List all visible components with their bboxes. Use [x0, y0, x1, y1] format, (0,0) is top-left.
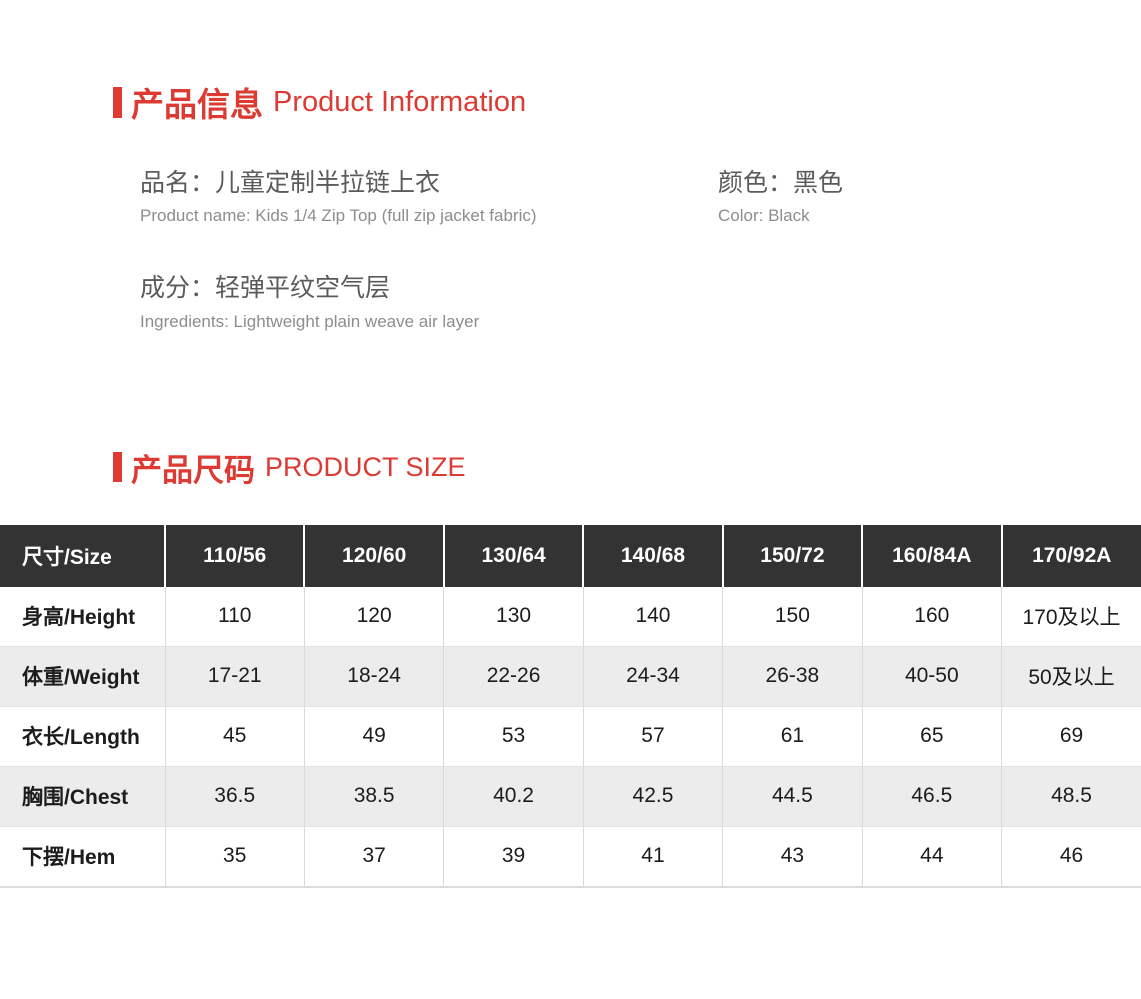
- table-row: 下摆/Hem35373941434446: [0, 826, 1141, 887]
- table-cell: 18-24: [304, 646, 443, 706]
- table-cell: 69: [1002, 706, 1141, 766]
- product-size-table: 尺寸/Size110/56120/60130/64140/68150/72160…: [0, 525, 1141, 888]
- table-cell: 49: [304, 706, 443, 766]
- product-info-heading-cn: 产品信息: [131, 78, 263, 126]
- table-row: 衣长/Length45495357616569: [0, 706, 1141, 766]
- product-name-en: Product name: Kids 1/4 Zip Top (full zip…: [140, 205, 537, 227]
- table-cell: 160: [862, 587, 1001, 647]
- table-cell: 39: [444, 826, 583, 887]
- info-row-name-color: 品名：儿童定制半拉链上衣 Product name: Kids 1/4 Zip …: [140, 168, 1141, 227]
- size-table-header-row: 尺寸/Size110/56120/60130/64140/68150/72160…: [0, 525, 1141, 587]
- product-size-section-heading: 产品尺码 PRODUCT SIZE: [0, 445, 1141, 490]
- table-cell: 61: [723, 706, 862, 766]
- size-table-header-160-84A: 160/84A: [862, 525, 1001, 587]
- table-cell: 170及以上: [1002, 587, 1141, 647]
- table-cell: 43: [723, 826, 862, 887]
- product-size-heading-en: PRODUCT SIZE: [265, 452, 466, 483]
- table-cell: 65: [862, 706, 1001, 766]
- table-cell: 26-38: [723, 646, 862, 706]
- table-cell: 150: [723, 587, 862, 647]
- table-cell: 36.5: [165, 766, 304, 826]
- product-info-section-heading: 产品信息 Product Information: [0, 78, 1141, 126]
- size-table-header-170-92A: 170/92A: [1002, 525, 1141, 587]
- table-cell: 110: [165, 587, 304, 647]
- size-table-header-label: 尺寸/Size: [0, 525, 165, 587]
- table-cell: 37: [304, 826, 443, 887]
- red-accent-bar-icon: [113, 87, 122, 118]
- row-label: 下摆/Hem: [0, 826, 165, 887]
- size-table-body: 身高/Height110120130140150160170及以上体重/Weig…: [0, 587, 1141, 887]
- table-cell: 45: [165, 706, 304, 766]
- red-accent-bar-icon: [113, 452, 122, 482]
- table-cell: 38.5: [304, 766, 443, 826]
- product-size-heading-cn: 产品尺码: [131, 445, 255, 490]
- size-table-header-140-68: 140/68: [583, 525, 722, 587]
- row-label: 体重/Weight: [0, 646, 165, 706]
- product-info-heading-en: Product Information: [273, 86, 526, 119]
- row-label: 身高/Height: [0, 587, 165, 647]
- row-label: 衣长/Length: [0, 706, 165, 766]
- table-cell: 40.2: [444, 766, 583, 826]
- table-cell: 44.5: [723, 766, 862, 826]
- table-cell: 120: [304, 587, 443, 647]
- product-color-cn: 颜色：黑色: [718, 168, 843, 199]
- table-cell: 42.5: [583, 766, 722, 826]
- table-row: 胸围/Chest36.538.540.242.544.546.548.5: [0, 766, 1141, 826]
- table-cell: 53: [444, 706, 583, 766]
- table-cell: 44: [862, 826, 1001, 887]
- table-cell: 50及以上: [1002, 646, 1141, 706]
- table-cell: 17-21: [165, 646, 304, 706]
- product-ingredients-field: 成分：轻弹平纹空气层 Ingredients: Lightweight plai…: [140, 273, 479, 332]
- table-row: 身高/Height110120130140150160170及以上: [0, 587, 1141, 647]
- table-cell: 35: [165, 826, 304, 887]
- table-cell: 46.5: [862, 766, 1001, 826]
- table-cell: 46: [1002, 826, 1141, 887]
- product-ingredients-en: Ingredients: Lightweight plain weave air…: [140, 311, 479, 333]
- size-table-header-150-72: 150/72: [723, 525, 862, 587]
- product-name-field: 品名：儿童定制半拉链上衣 Product name: Kids 1/4 Zip …: [140, 168, 537, 227]
- product-name-cn: 品名：儿童定制半拉链上衣: [140, 168, 537, 199]
- table-cell: 48.5: [1002, 766, 1141, 826]
- product-info-details: 品名：儿童定制半拉链上衣 Product name: Kids 1/4 Zip …: [0, 168, 1141, 333]
- table-row: 体重/Weight17-2118-2422-2624-3426-3840-505…: [0, 646, 1141, 706]
- table-cell: 41: [583, 826, 722, 887]
- size-table-container: 尺寸/Size110/56120/60130/64140/68150/72160…: [0, 525, 1141, 888]
- product-ingredients-cn: 成分：轻弹平纹空气层: [140, 273, 479, 304]
- table-cell: 130: [444, 587, 583, 647]
- product-color-en: Color: Black: [718, 205, 843, 227]
- table-cell: 140: [583, 587, 722, 647]
- row-label: 胸围/Chest: [0, 766, 165, 826]
- table-cell: 24-34: [583, 646, 722, 706]
- size-table-header-120-60: 120/60: [304, 525, 443, 587]
- info-row-ingredients: 成分：轻弹平纹空气层 Ingredients: Lightweight plai…: [140, 273, 1141, 332]
- product-color-field: 颜色：黑色 Color: Black: [718, 168, 843, 227]
- size-table-head: 尺寸/Size110/56120/60130/64140/68150/72160…: [0, 525, 1141, 587]
- table-cell: 57: [583, 706, 722, 766]
- table-cell: 22-26: [444, 646, 583, 706]
- size-table-header-130-64: 130/64: [444, 525, 583, 587]
- table-cell: 40-50: [862, 646, 1001, 706]
- size-table-header-110-56: 110/56: [165, 525, 304, 587]
